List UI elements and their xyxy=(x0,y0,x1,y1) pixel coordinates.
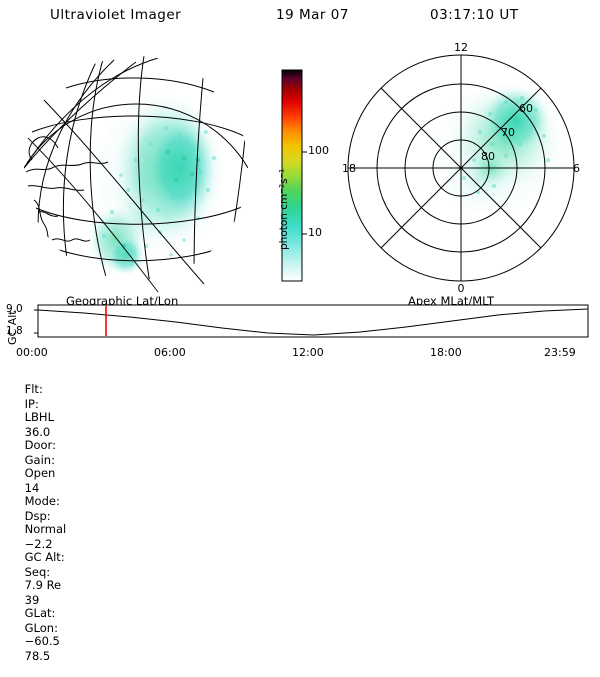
mlt-label-12: 12 xyxy=(454,41,468,54)
colorbar-tick-10: 10 xyxy=(308,226,322,239)
mlat-label-70: 70 xyxy=(501,126,515,139)
aurora-polar-image xyxy=(426,80,570,220)
mlt-label-18: 18 xyxy=(342,162,356,175)
mlt-label-6: 6 xyxy=(573,162,580,175)
status-gain-value: 14 xyxy=(25,481,40,495)
geographic-image-panel xyxy=(8,40,258,295)
status-ip-label: IP: xyxy=(25,397,39,411)
uvi-screenshot: Ultraviolet Imager 19 Mar 07 03:17:10 UT xyxy=(0,0,600,400)
gc-alt-xtick-0: 00:00 xyxy=(16,346,48,359)
polar-grid xyxy=(348,55,574,281)
colorbar-tick-100: 100 xyxy=(308,144,329,157)
status-dsp-value: −2.2 xyxy=(25,537,53,551)
gc-alt-xtick-4: 23:59 xyxy=(544,346,576,359)
header: Ultraviolet Imager 19 Mar 07 03:17:10 UT xyxy=(0,7,600,27)
status-gain-label: Gain: xyxy=(25,453,55,467)
colorbar-axis-title: photon cm⁻²s⁻¹ xyxy=(278,169,290,250)
status-line-2: IP: 36.0 Gain: 14 Dsp: −2.2 Seq: 39 GLon… xyxy=(10,383,71,677)
mlat-label-80: 80 xyxy=(481,150,495,163)
status-seq-label: Seq: xyxy=(25,565,51,579)
gc-alt-xtick-2: 12:00 xyxy=(292,346,324,359)
gc-alt-xtick-3: 18:00 xyxy=(430,346,462,359)
gc-alt-plot xyxy=(8,303,592,345)
header-date: 19 Mar 07 xyxy=(276,7,349,23)
status-glon-value: 78.5 xyxy=(25,649,51,663)
status-ip-value: 36.0 xyxy=(25,425,51,439)
status-dsp-label: Dsp: xyxy=(25,509,51,523)
status-seq-value: 39 xyxy=(25,593,40,607)
header-title: Ultraviolet Imager xyxy=(50,7,181,23)
status-glon-label: GLon: xyxy=(25,621,58,635)
gc-alt-ylabel: GC Alt xyxy=(6,310,19,345)
header-time: 03:17:10 UT xyxy=(430,7,519,23)
apex-polar-panel: 12 18 6 0 60 70 80 xyxy=(330,40,592,295)
gc-alt-xtick-1: 06:00 xyxy=(154,346,186,359)
mlat-label-60: 60 xyxy=(519,102,533,115)
